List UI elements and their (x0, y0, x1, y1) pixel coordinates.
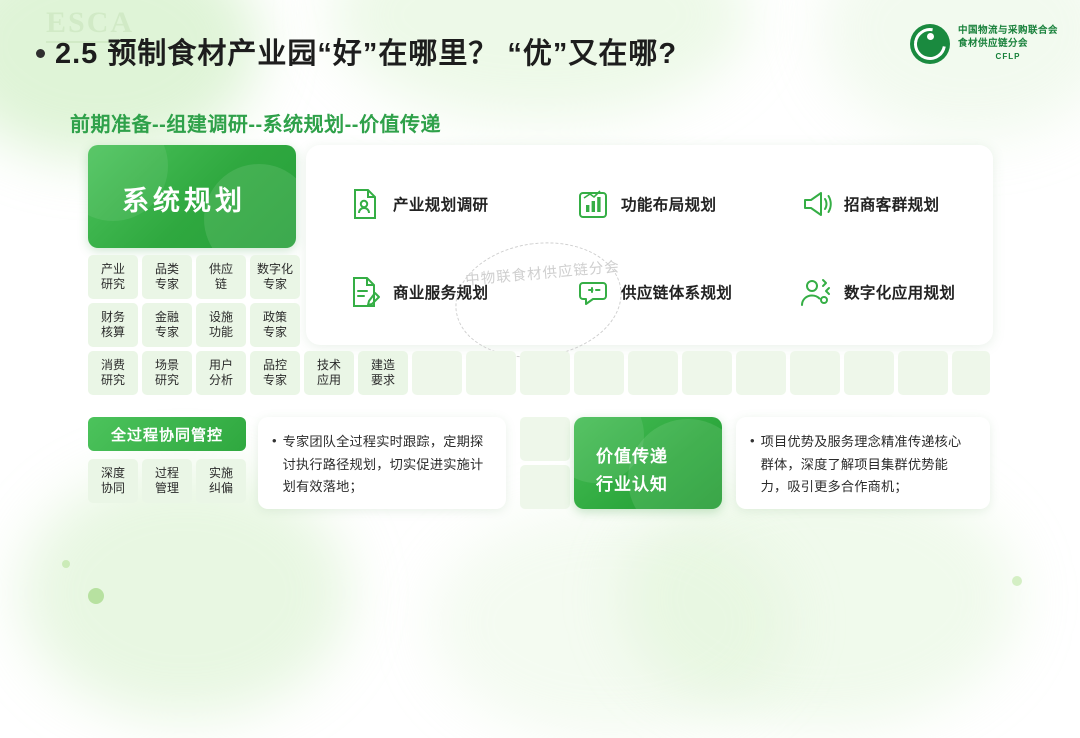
tag-chip-empty (628, 351, 678, 395)
logo-abbr: CFLP (958, 52, 1058, 63)
tag-chip[interactable]: 政策专家 (250, 303, 300, 347)
tag-chip-empty (790, 351, 840, 395)
tag-label: 财务核算 (101, 310, 125, 340)
tag-label: 设施功能 (209, 310, 233, 340)
tag-label: 用户分析 (209, 358, 233, 388)
tag-chip[interactable]: 深度协同 (88, 459, 138, 503)
note-left-text: 专家团队全过程实时跟踪，定期探讨执行路径规划，切实促进实施计划有效落地； (283, 431, 490, 499)
tag-label: 消费研究 (101, 358, 125, 388)
logo-swirl-icon (910, 24, 950, 64)
logo-line-1: 中国物流与采购联合会 (958, 25, 1058, 38)
tag-chip[interactable]: 场景研究 (142, 351, 192, 395)
tag-label: 深度协同 (101, 466, 125, 496)
tag-label: 品类专家 (155, 262, 179, 292)
tag-label: 金融专家 (155, 310, 179, 340)
tag-chip[interactable]: 供应链 (196, 255, 246, 299)
page-title-text: 2.5 预制食材产业园“好”在哪里？ “优”又在哪? (55, 30, 677, 72)
tag-chip[interactable]: 品控专家 (250, 351, 300, 395)
bullet-icon: • (750, 431, 755, 499)
background-blob (430, 508, 790, 738)
system-planning-card: 系统规划 (88, 145, 296, 248)
feature-label-5: 数字化应用规划 (844, 281, 955, 303)
tag-chip-empty (520, 351, 570, 395)
features-panel: 产业规划调研 功能布局规划 招商客群规划 商业服务规划 供应链体系规划 (306, 145, 993, 345)
tag-chip[interactable]: 实施纠偏 (196, 459, 246, 503)
tag-chip[interactable]: 过程管理 (142, 459, 192, 503)
tag-chip-empty (952, 351, 990, 395)
note-left: • 专家团队全过程实时跟踪，定期探讨执行路径规划，切实促进实施计划有效落地； (258, 417, 506, 509)
tag-label: 数字化专家 (257, 262, 293, 292)
document-pen-icon (348, 275, 382, 309)
value-transfer-label: 价值传递行业认知 (596, 443, 668, 499)
process-control-label: 全过程协同管控 (111, 424, 223, 445)
tag-chip[interactable]: 数字化专家 (250, 255, 300, 299)
section-subtitle: 前期准备--组建调研--系统规划--价值传递 (70, 108, 441, 137)
logo-text: 中国物流与采购联合会 食材供应链分会 CFLP (958, 25, 1058, 62)
tag-chip[interactable]: 产业研究 (88, 255, 138, 299)
tag-label: 过程管理 (155, 466, 179, 496)
tag-chip[interactable]: 技术应用 (304, 351, 354, 395)
chat-link-icon (576, 275, 610, 309)
tag-chip-empty (466, 351, 516, 395)
tag-chip-empty (844, 351, 894, 395)
process-control-bar: 全过程协同管控 (88, 417, 246, 451)
background-blob (820, 0, 1080, 140)
decorative-dot (62, 560, 70, 568)
decorative-dot (88, 588, 104, 604)
tag-chip[interactable]: 用户分析 (196, 351, 246, 395)
note-right-text: 项目优势及服务理念精准传递核心群体，深度了解项目集群优势能力，吸引更多合作商机； (761, 431, 974, 499)
value-transfer-card: 价值传递行业认知 (574, 417, 722, 509)
bullet-icon: • (272, 431, 277, 499)
chart-growth-icon (576, 187, 610, 221)
page-title: 2.5 预制食材产业园“好”在哪里？ “优”又在哪? (36, 30, 677, 72)
brand-logo: 中国物流与采购联合会 食材供应链分会 CFLP (910, 24, 1058, 64)
document-person-icon (348, 187, 382, 221)
tag-chip[interactable]: 品类专家 (142, 255, 192, 299)
feature-item-4[interactable]: 供应链体系规划 (576, 275, 732, 309)
tag-chip[interactable]: 财务核算 (88, 303, 138, 347)
bullet-icon (36, 49, 45, 58)
tag-label: 建造要求 (371, 358, 395, 388)
feature-label-4: 供应链体系规划 (621, 281, 732, 303)
feature-label-3: 商业服务规划 (393, 281, 488, 303)
feature-label-1: 功能布局规划 (621, 193, 716, 215)
megaphone-icon (799, 187, 833, 221)
tag-chip[interactable]: 金融专家 (142, 303, 192, 347)
tag-chip-empty (898, 351, 948, 395)
tag-label: 技术应用 (317, 358, 341, 388)
feature-item-0[interactable]: 产业规划调研 (348, 187, 488, 221)
tag-chip[interactable]: 建造要求 (358, 351, 408, 395)
tag-label: 政策专家 (263, 310, 287, 340)
feature-item-1[interactable]: 功能布局规划 (576, 187, 716, 221)
tag-chip-empty (520, 417, 570, 461)
tag-label: 产业研究 (101, 262, 125, 292)
feature-item-5[interactable]: 数字化应用规划 (799, 275, 955, 309)
tag-label: 品控专家 (263, 358, 287, 388)
decorative-dot (1012, 576, 1022, 586)
person-digital-icon (799, 275, 833, 309)
note-right: • 项目优势及服务理念精准传递核心群体，深度了解项目集群优势能力，吸引更多合作商… (736, 417, 990, 509)
feature-label-2: 招商客群规划 (844, 193, 939, 215)
feature-item-3[interactable]: 商业服务规划 (348, 275, 488, 309)
tag-chip[interactable]: 消费研究 (88, 351, 138, 395)
tag-label: 场景研究 (155, 358, 179, 388)
tag-chip-empty (520, 465, 570, 509)
tag-chip-empty (574, 351, 624, 395)
system-planning-title: 系统规划 (122, 179, 246, 218)
tag-label: 实施纠偏 (209, 466, 233, 496)
tag-chip-empty (412, 351, 462, 395)
tag-label: 供应链 (209, 262, 233, 292)
feature-label-0: 产业规划调研 (393, 193, 488, 215)
logo-line-2: 食材供应链分会 (958, 38, 1058, 51)
tag-chip-empty (682, 351, 732, 395)
tag-chip[interactable]: 设施功能 (196, 303, 246, 347)
feature-item-2[interactable]: 招商客群规划 (799, 187, 939, 221)
tag-chip-empty (736, 351, 786, 395)
